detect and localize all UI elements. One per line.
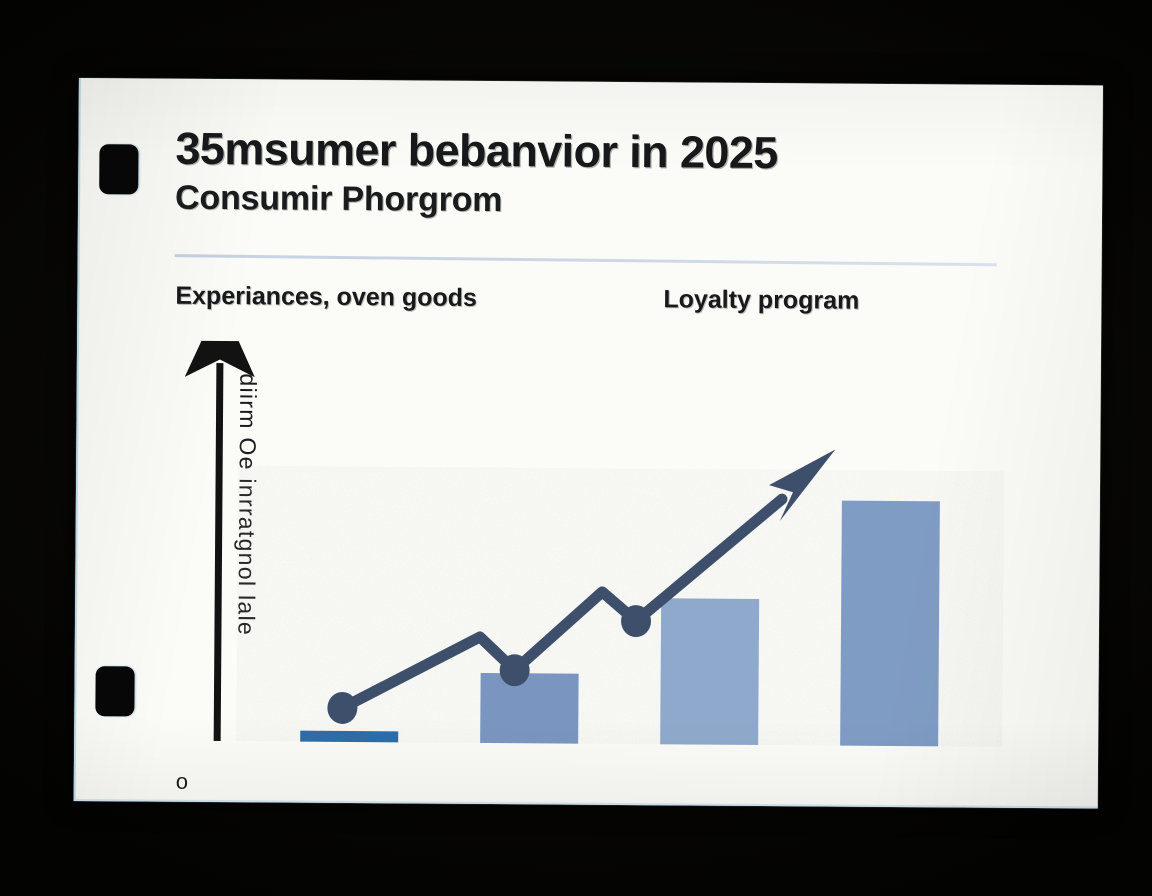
title-divider [175,254,997,266]
legend-item-loyalty: Loyalty program [663,285,859,315]
chart-plot-area: diirm Oe inrratgnol lale o [150,341,1083,748]
printed-sheet: 35msumer bebanvior in 2025 Consumir Phor… [74,78,1103,808]
page-title: 35msumer bebanvior in 2025 [175,125,1035,179]
legend-item-experiences: Experiances, oven goods [175,282,477,313]
axis-origin-label: o [176,769,188,795]
bar-4 [840,501,940,748]
screenshot-root: 35msumer bebanvior in 2025 Consumir Phor… [0,0,1152,896]
title-block: 35msumer bebanvior in 2025 Consumir Phor… [175,125,1036,224]
bar-series [300,497,940,748]
punch-hole-icon [95,666,134,716]
legend: Experiances, oven goods Loyalty program [175,282,1005,328]
bar-3 [660,598,760,747]
trend-line-series [327,446,835,728]
page-subtitle: Consumir Phorgrom [175,178,1035,223]
line-marker [621,605,651,637]
chart-svg [150,341,1083,748]
line-marker [327,692,357,724]
trend-arrow-icon [769,449,836,521]
punch-hole-icon [99,144,138,194]
y-axis [217,363,220,747]
bar-2 [480,673,579,747]
line-marker [500,654,530,686]
bar-1 [300,731,399,748]
